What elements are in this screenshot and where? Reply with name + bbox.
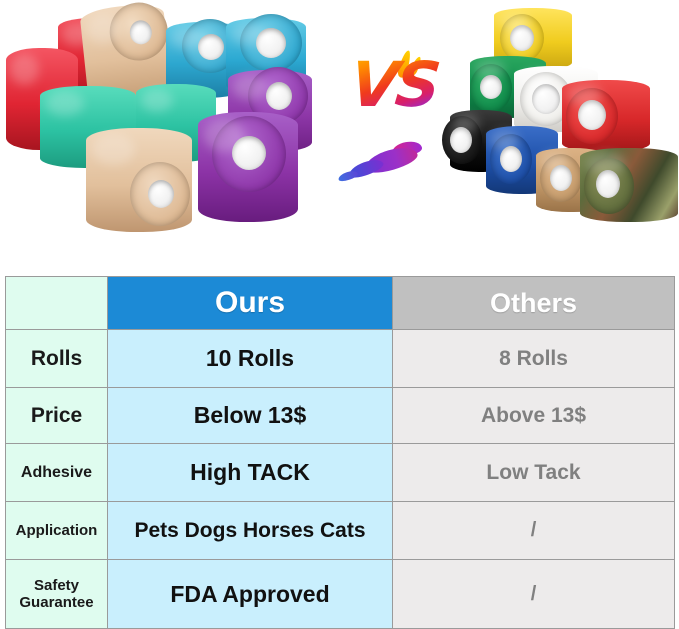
bandage-roll: [198, 112, 298, 222]
others-value-rolls: 8 Rolls: [393, 330, 675, 388]
feature-label-line-1: Safety: [10, 577, 103, 594]
others-value-price: Above 13$: [393, 388, 675, 444]
others-product-image: [452, 0, 679, 260]
paint-splash-icon: [337, 169, 358, 183]
bandage-roll: [86, 128, 192, 232]
table-header-row: Ours Others: [6, 277, 675, 330]
others-value-application: /: [393, 502, 675, 560]
comparison-table-container: Ours Others Rolls 10 Rolls 8 Rolls Price…: [5, 276, 674, 623]
ours-value-price: Below 13$: [108, 388, 393, 444]
header-ours: Ours: [108, 277, 393, 330]
feature-label-line-2: Guarantee: [10, 594, 103, 611]
feature-label-application: Application: [6, 502, 108, 560]
header-blank-cell: [6, 277, 108, 330]
feature-label-price: Price: [6, 388, 108, 444]
bandage-roll: [580, 148, 678, 222]
product-comparison-table: Ours Others Rolls 10 Rolls 8 Rolls Price…: [5, 276, 675, 629]
feature-label-adhesive: Adhesive: [6, 444, 108, 502]
others-value-safety-guarantee: /: [393, 560, 675, 629]
table-row: Price Below 13$ Above 13$: [6, 388, 675, 444]
feature-label-safety-guarantee: Safety Guarantee: [6, 560, 108, 629]
ours-value-adhesive: High TACK: [108, 444, 393, 502]
header-others: Others: [393, 277, 675, 330]
table-row: Rolls 10 Rolls 8 Rolls: [6, 330, 675, 388]
others-value-adhesive: Low Tack: [393, 444, 675, 502]
versus-label: VS: [333, 54, 456, 116]
table-row: Safety Guarantee FDA Approved /: [6, 560, 675, 629]
table-row: Application Pets Dogs Horses Cats /: [6, 502, 675, 560]
ours-product-image: [0, 0, 330, 260]
ours-value-rolls: 10 Rolls: [108, 330, 393, 388]
feature-label-rolls: Rolls: [6, 330, 108, 388]
ours-value-safety-guarantee: FDA Approved: [108, 560, 393, 629]
ours-value-application: Pets Dogs Horses Cats: [108, 502, 393, 560]
product-comparison-hero: VS: [0, 0, 679, 270]
bandage-roll: [562, 80, 650, 152]
versus-badge: VS: [336, 46, 452, 196]
table-row: Adhesive High TACK Low Tack: [6, 444, 675, 502]
